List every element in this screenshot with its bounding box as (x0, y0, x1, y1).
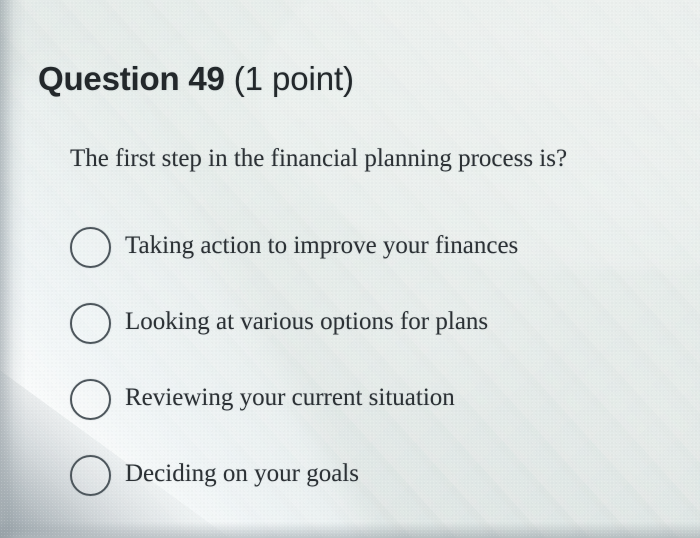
radio-button-icon[interactable] (70, 303, 111, 344)
answer-option[interactable]: Taking action to improve your finances (68, 226, 668, 302)
answer-option[interactable]: Reviewing your current situation (68, 378, 668, 454)
radio-button-icon[interactable] (70, 455, 111, 496)
answer-option-label: Looking at various options for plans (125, 308, 488, 336)
question-points: (1 point) (225, 60, 354, 97)
radio-button-icon[interactable] (70, 379, 111, 420)
answer-option-label: Deciding on your goals (125, 460, 359, 488)
quiz-screenshot: Question 49 (1 point) The first step in … (0, 0, 700, 538)
question-prompt: The first step in the financial planning… (70, 145, 567, 173)
answer-options-list: Taking action to improve your finances L… (68, 226, 668, 530)
answer-option-label: Taking action to improve your finances (125, 232, 518, 260)
question-header: Question 49 (1 point) (38, 61, 354, 98)
quiz-content: Question 49 (1 point) The first step in … (0, 0, 700, 538)
question-number: Question 49 (38, 60, 225, 97)
answer-option-label: Reviewing your current situation (125, 384, 455, 412)
answer-option[interactable]: Deciding on your goals (68, 454, 668, 530)
answer-option[interactable]: Looking at various options for plans (68, 302, 668, 378)
radio-button-icon[interactable] (70, 227, 111, 268)
